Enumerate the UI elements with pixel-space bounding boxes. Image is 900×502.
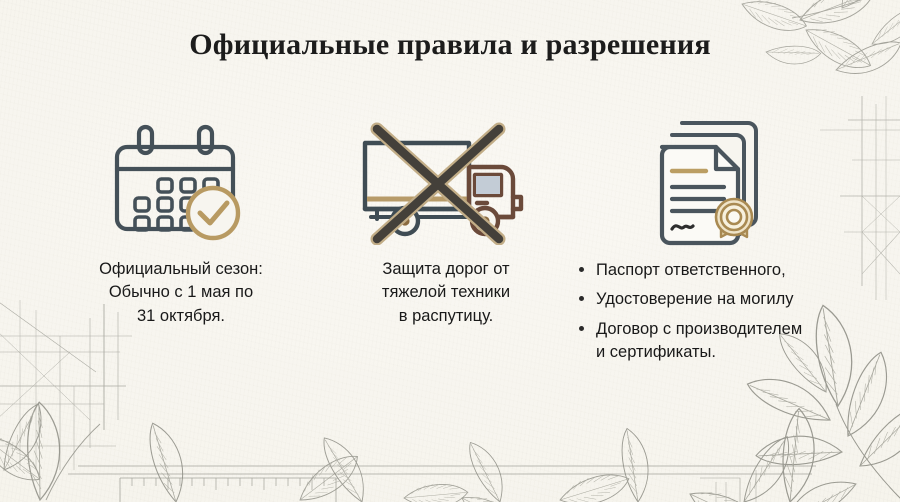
caption-line: Официальный сезон: — [46, 258, 316, 281]
list-item: Паспорт ответственного, — [594, 259, 860, 282]
bullet-line: Удостоверение на могилу — [596, 290, 794, 308]
certified-documents-icon — [648, 115, 782, 251]
caption-road-protection: Защита дорог от тяжелой техники в распут… — [322, 258, 570, 328]
caption-official-season: Официальный сезон: Обычно с 1 мая по 31 … — [40, 258, 322, 328]
certified-documents-icon-wrap — [570, 108, 860, 258]
slide-canvas: Официальные правила и разрешения — [0, 0, 900, 502]
caption-line: тяжелой техники — [328, 281, 564, 304]
bullet-line: Договор с производителем — [596, 320, 802, 338]
caption-line: Обычно с 1 мая по — [46, 281, 316, 304]
column-required-documents: Паспорт ответственного, Удостоверение на… — [570, 108, 860, 408]
three-column-layout: Официальный сезон: Обычно с 1 мая по 31 … — [40, 108, 860, 408]
page-title: Официальные правила и разрешения — [0, 28, 900, 62]
no-heavy-truck-icon — [357, 121, 535, 245]
calendar-check-icon-wrap — [40, 108, 322, 258]
calendar-check-icon — [111, 121, 251, 245]
no-heavy-truck-icon-wrap — [322, 108, 570, 258]
list-item: Удостоверение на могилу — [594, 288, 860, 311]
required-documents-list: Паспорт ответственного, Удостоверение на… — [570, 259, 860, 365]
bullet-line: Паспорт ответственного, — [596, 261, 786, 279]
caption-line: 31 октября. — [46, 305, 316, 328]
caption-line: в распутицу. — [328, 305, 564, 328]
column-official-season: Официальный сезон: Обычно с 1 мая по 31 … — [40, 108, 322, 408]
award-seal — [716, 199, 752, 237]
bullet-line: и сертификаты. — [596, 343, 716, 361]
list-item: Договор с производителем и сертификаты. — [594, 318, 860, 365]
column-road-protection: Защита дорог от тяжелой техники в распут… — [322, 108, 570, 408]
caption-line: Защита дорог от — [328, 258, 564, 281]
